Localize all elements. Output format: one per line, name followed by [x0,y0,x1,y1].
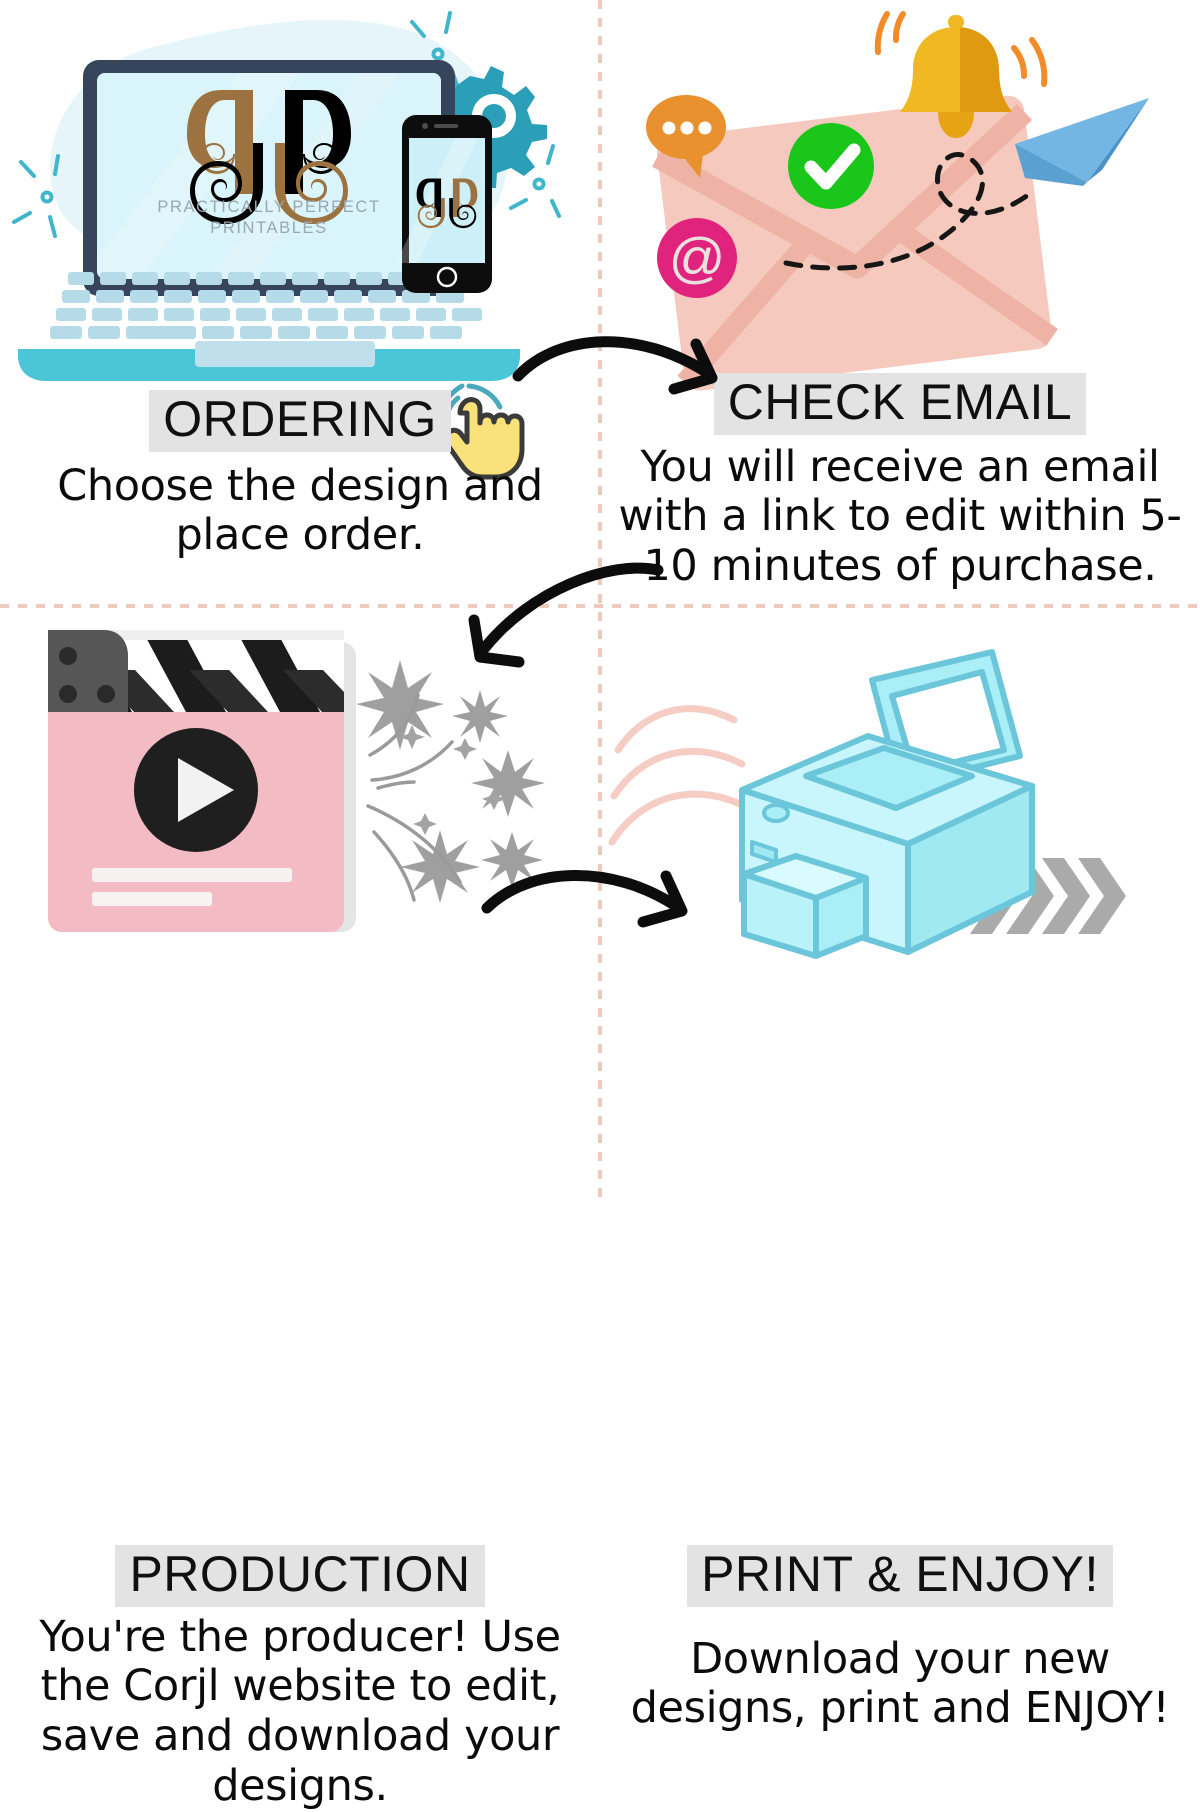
paper-plane-icon [1015,98,1149,186]
motion-lines-icon [612,709,748,842]
clapperboard-illustration [0,600,600,1200]
at-sign-icon: @ [657,218,737,298]
step-body-production: You're the producer! Use the Corjl websi… [3,1613,598,1812]
step-body-print-enjoy: Download your new designs, print and ENJ… [610,1635,1190,1735]
svg-text:@: @ [669,226,726,289]
sparkle-burst-icon [356,660,545,903]
caption-check-email: CHECK EMAIL You will receive an email wi… [600,373,1200,592]
step-panel-print-enjoy: PRINT & ENJOY! Download your new designs… [600,600,1200,1200]
step-title-check-email: CHECK EMAIL [714,373,1086,435]
infographic-canvas: PRACTICALLY PERFECT PRINTABLES [0,0,1200,1200]
clapperboard-icon [48,630,356,932]
caption-ordering: ORDERING Choose the design and place ord… [0,390,600,561]
caption-production: PRODUCTION You're the producer! Use the … [0,1545,600,1812]
step-body-ordering: Choose the design and place order. [10,462,590,562]
divider-vertical [598,0,602,1200]
printer-illustration [600,600,1200,1200]
step-body-check-email: You will receive an email with a link to… [605,443,1195,593]
caption-print-enjoy: PRINT & ENJOY! Download your new designs… [600,1545,1200,1734]
step-title-production: PRODUCTION [115,1545,484,1607]
step-panel-ordering: PRACTICALLY PERFECT PRINTABLES [0,0,600,600]
step-panel-check-email: @ CHECK EMAIL You will receive an email … [600,0,1200,600]
printer-icon [742,652,1032,956]
step-panel-production: PRODUCTION You're the producer! Use the … [0,600,600,1200]
step-title-print-enjoy: PRINT & ENJOY! [687,1545,1113,1607]
logo-line-1: PRACTICALLY PERFECT [157,198,380,216]
smartphone [396,115,492,293]
check-circle-icon [788,123,874,209]
logo-line-2: PRINTABLES [210,219,327,237]
trackpad [195,341,375,367]
step-title-ordering: ORDERING [149,390,450,452]
